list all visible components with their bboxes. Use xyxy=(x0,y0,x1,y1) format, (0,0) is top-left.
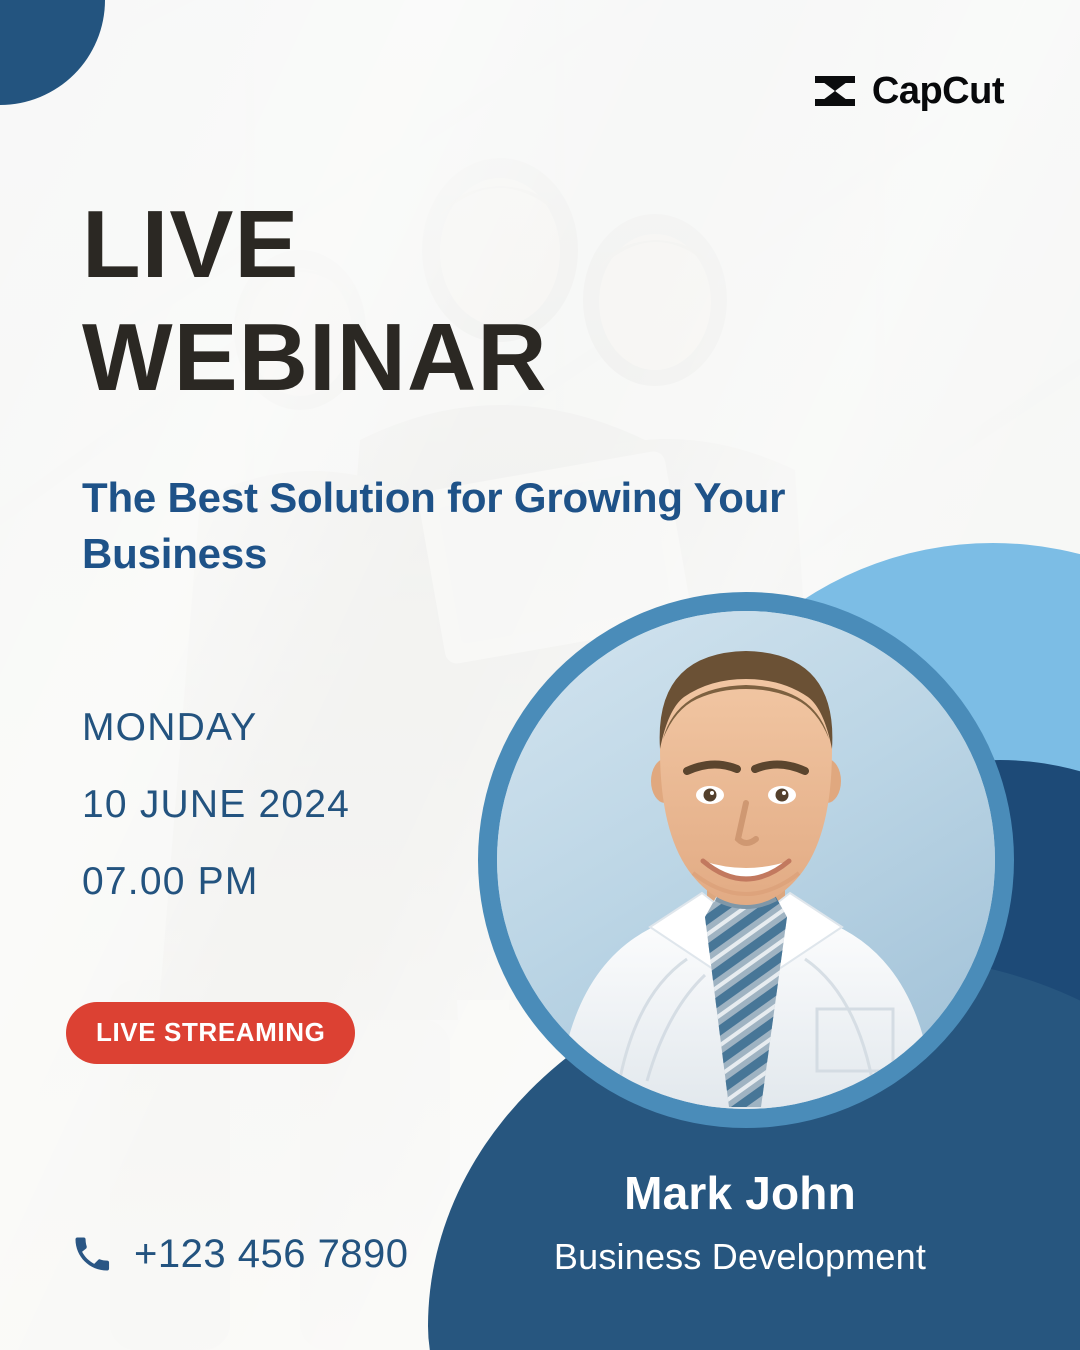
webinar-poster: CapCut LIVE WEBINAR The Best Solution fo… xyxy=(0,0,1080,1350)
headline-line-2: WEBINAR xyxy=(82,301,548,414)
capcut-hourglass-icon xyxy=(812,73,858,109)
contact-phone[interactable]: +123 456 7890 xyxy=(70,1232,409,1276)
phone-icon xyxy=(70,1232,114,1276)
capcut-wordmark: CapCut xyxy=(872,72,1004,110)
schedule-block: MONDAY 10 JUNE 2024 07.00 PM xyxy=(82,708,350,901)
speaker-info: Mark John Business Development xyxy=(480,1168,1000,1276)
phone-number: +123 456 7890 xyxy=(134,1234,409,1274)
speaker-name: Mark John xyxy=(480,1168,1000,1219)
schedule-time: 07.00 PM xyxy=(82,862,350,901)
schedule-day: MONDAY xyxy=(82,708,350,747)
schedule-date: 10 JUNE 2024 xyxy=(82,785,350,824)
capcut-logo: CapCut xyxy=(812,72,1004,110)
speaker-avatar xyxy=(497,611,995,1109)
speaker-role: Business Development xyxy=(480,1237,1000,1277)
headline-line-1: LIVE xyxy=(82,191,299,298)
page-title: LIVE WEBINAR xyxy=(82,188,548,415)
live-streaming-badge[interactable]: LIVE STREAMING xyxy=(66,1002,355,1064)
subheadline: The Best Solution for Growing Your Busin… xyxy=(82,470,842,582)
